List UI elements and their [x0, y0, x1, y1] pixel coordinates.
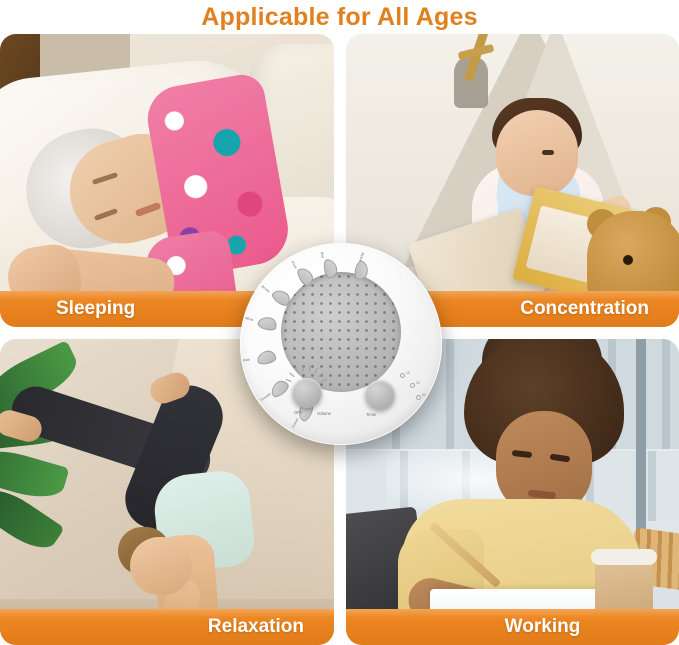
sound-button-label-rain: Rain — [243, 357, 251, 362]
sound-button-wind[interactable] — [257, 314, 279, 332]
timer-option-label-30: 30 — [416, 381, 420, 385]
volume-tick — [289, 372, 294, 377]
sound-button-thunder[interactable] — [268, 378, 291, 400]
sound-button-label-thunder: Thunder — [259, 391, 272, 402]
sound-button-label-wind: Wind — [245, 316, 254, 322]
caption-label: Working — [505, 616, 581, 638]
timer-knob[interactable] — [365, 380, 395, 410]
sound-button-rain[interactable] — [256, 349, 277, 365]
timer-label: Timer — [366, 412, 377, 417]
caption-label: Relaxation — [208, 616, 304, 638]
timer-option-label-15: 15 — [406, 371, 410, 375]
volume-knob[interactable] — [292, 378, 322, 408]
speaker-grille — [281, 272, 401, 392]
timer-option-label-60: 60 — [422, 393, 426, 397]
caption-label: Concentration — [520, 298, 649, 320]
timer-option-30[interactable] — [410, 383, 415, 388]
caption-bar-working: Working — [346, 609, 679, 645]
off-label: OFF — [294, 410, 302, 415]
page-header: Applicable for All Ages — [0, 0, 679, 34]
caption-label: Sleeping — [56, 298, 135, 320]
volume-label: Volume — [317, 411, 331, 416]
sound-button-label-bird: Bird — [320, 251, 325, 258]
caption-bar-relaxation: Relaxation — [0, 609, 334, 645]
timer-option-60[interactable] — [416, 395, 421, 400]
timer-option-15[interactable] — [400, 373, 405, 378]
page-title: Applicable for All Ages — [201, 3, 477, 32]
sound-button-label-brook: Brook — [261, 284, 271, 293]
sound-button-label-river: River — [290, 260, 297, 269]
sound-button-label-ocean: Ocean — [291, 418, 299, 429]
white-noise-sound-machine[interactable]: ThunderOceanRainWindBrookRiverBirdRelax … — [240, 243, 442, 445]
